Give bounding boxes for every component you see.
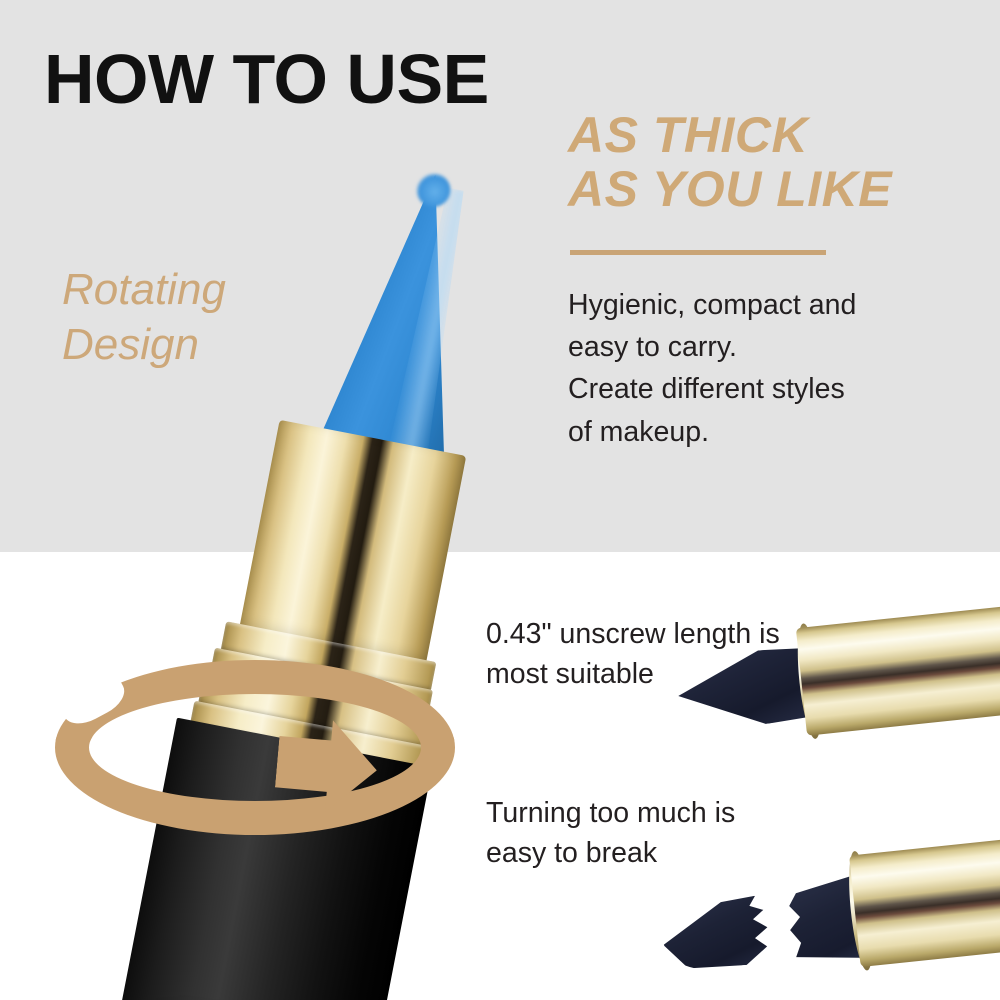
subheading: AS THICK AS YOU LIKE [568,108,988,216]
page-title: HOW TO USE [44,44,489,115]
body-copy-line1: Hygienic, compact and [568,284,968,326]
gold-divider-rule [570,250,826,255]
intact-gold-barrel [796,601,1000,736]
broken-gold-barrel [849,834,1000,967]
body-copy-line4: of makeup. [568,411,968,453]
body-copy: Hygienic, compact and easy to carry. Cre… [568,284,968,453]
note-turning-too-much-line1: Turning too much is [486,793,856,833]
infographic-page: HOW TO USE Rotating Design AS THICK AS Y… [0,0,1000,1000]
broken-tip-fragment [659,894,777,973]
body-copy-line3: Create different styles [568,368,968,410]
intact-lipstick-photo [660,610,1000,760]
broken-lipstick-group [653,827,1000,1000]
navy-cone-tip [674,645,817,733]
rotation-arrow-icon [55,660,455,890]
body-copy-line2: easy to carry. [568,326,968,368]
intact-lipstick-group [653,592,1000,779]
subheading-line1: AS THICK [568,108,988,162]
broken-lipstick-photo [660,845,1000,1000]
subheading-line2: AS YOU LIKE [568,162,988,216]
